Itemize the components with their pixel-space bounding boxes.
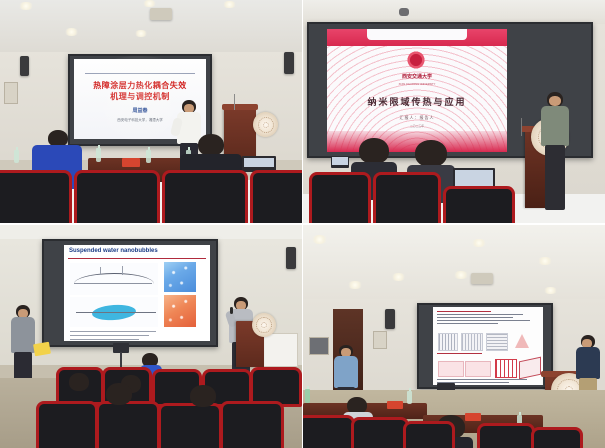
auditorium-chair — [0, 170, 72, 223]
wall-speaker — [286, 247, 296, 269]
bullet-line — [70, 335, 149, 336]
laptop — [331, 156, 349, 168]
ceiling-light — [222, 1, 237, 8]
auditorium-chair — [443, 186, 515, 223]
laptop-screen — [244, 158, 274, 167]
pink-table — [465, 361, 491, 377]
slide-byline: 汇报人：报告人 — [327, 115, 507, 121]
bullet-line — [70, 331, 156, 332]
lens-bubble-diagram — [70, 297, 158, 327]
auditorium-chair — [477, 423, 535, 448]
ceiling-camera — [399, 8, 409, 16]
auditorium-chair — [36, 401, 98, 448]
triangle-plot — [515, 334, 529, 348]
microphone-stand — [234, 94, 235, 110]
head — [106, 383, 132, 405]
projection-screen — [417, 303, 553, 389]
slide-subtext — [437, 353, 503, 356]
ceiling-light — [543, 287, 558, 294]
auditorium-chair — [162, 170, 248, 223]
microphone-stand — [521, 118, 522, 136]
red-box — [387, 401, 403, 409]
panel-bottom-right — [303, 225, 605, 448]
university-name-cn: 西安交通大学 — [327, 73, 507, 80]
grid-microstructure — [486, 333, 508, 351]
auditorium-chair — [351, 417, 409, 448]
auditorium-chair — [250, 170, 302, 223]
panel-bottom-left: Suspended water nanobubbles — [0, 225, 302, 448]
lecture-hall-scene-3: Suspended water nanobubbles — [0, 225, 302, 448]
lecture-hall-scene-2: 西安交通大学 XI'AN JIAOTONG UNIVERSITY 纳米限域传热与… — [303, 0, 605, 223]
slide-notch — [367, 29, 468, 40]
text-line — [437, 353, 482, 354]
substrate-line — [76, 312, 156, 313]
ceiling-light — [391, 273, 406, 281]
ceiling-light — [311, 235, 328, 244]
ceiling — [0, 225, 302, 239]
decorative-flower — [253, 112, 278, 137]
wall-speaker — [284, 52, 294, 74]
ceiling-projector — [471, 273, 493, 284]
ceiling-light — [453, 271, 469, 279]
wall-control-panel — [4, 82, 18, 104]
schematic-wave-diagram — [70, 263, 158, 295]
wall-speaker — [20, 56, 29, 76]
head — [190, 385, 216, 407]
water-bottle — [146, 150, 151, 163]
slide-rule — [68, 258, 206, 259]
red-striped-lattice — [495, 359, 517, 378]
baseline — [74, 283, 152, 284]
wall-control-panel — [373, 331, 387, 349]
head — [69, 373, 89, 391]
auditorium-chair — [373, 172, 441, 223]
ceiling-light — [18, 2, 34, 10]
auditorium-chair — [403, 421, 455, 448]
head — [198, 134, 224, 156]
whiteboard — [262, 333, 298, 367]
text-line — [437, 320, 530, 321]
audience-row — [186, 385, 220, 415]
wall-speaker — [385, 309, 395, 329]
torso — [576, 347, 600, 379]
slide-text-block — [437, 311, 535, 326]
slide-bottom-left: Suspended water nanobubbles — [64, 245, 210, 341]
hatched-panel — [461, 333, 483, 351]
panel-top-left: 热障涂层力热化耦合失效 机理与调控机制 周益春 西安电子科技大学，湘潭大学 — [0, 0, 302, 223]
slide-top-right: 西安交通大学 XI'AN JIAOTONG UNIVERSITY 纳米限域传热与… — [327, 29, 507, 152]
torso — [541, 106, 569, 146]
text-line — [437, 317, 513, 318]
slide-bullets — [70, 331, 156, 341]
text-line — [437, 323, 498, 324]
auditorium-chair — [74, 170, 160, 223]
slide-title: Suspended water nanobubbles — [69, 248, 158, 254]
head — [359, 138, 389, 164]
tick — [100, 267, 101, 275]
skewed-cube — [519, 357, 541, 380]
camera-tripod — [110, 343, 132, 369]
wall-monitor — [309, 337, 329, 355]
bullet-line — [70, 339, 139, 340]
laptop-screen — [455, 170, 493, 187]
slide-bottom-right — [433, 307, 543, 385]
microphone — [230, 307, 233, 314]
audience-row — [102, 383, 136, 413]
text-line — [437, 379, 527, 380]
ceiling-light — [64, 28, 79, 36]
orange-afm-image — [164, 295, 196, 327]
slide-top-band — [327, 29, 507, 46]
torso — [334, 356, 358, 388]
ceiling-light — [134, 30, 148, 37]
ceiling-light — [471, 239, 487, 247]
red-box — [122, 158, 140, 167]
auditorium-chair — [303, 415, 355, 448]
auditorium-chair — [309, 172, 371, 223]
blue-afm-image — [164, 262, 196, 292]
projection-screen: Suspended water nanobubbles — [42, 239, 218, 347]
ceiling-projector — [150, 8, 172, 20]
slide-divider — [85, 73, 196, 74]
water-bottle — [407, 391, 412, 404]
auditorium-chair — [531, 427, 583, 448]
audience-row — [66, 373, 92, 401]
ceiling-light — [142, 0, 157, 7]
ceiling — [303, 225, 605, 299]
photo-collage: 热障涂层力热化耦合失效 机理与调控机制 周益春 西安电子科技大学，湘潭大学 — [0, 0, 605, 448]
slide-title: 纳米限域传热与应用 — [327, 95, 507, 108]
laptop-screen — [332, 157, 348, 165]
text-line — [437, 311, 491, 312]
water-bottle — [96, 148, 101, 162]
ceiling — [303, 0, 605, 24]
water-bottle — [305, 389, 310, 403]
university-name-en: XI'AN JIAOTONG UNIVERSITY — [327, 83, 507, 86]
water-bottle — [14, 150, 19, 163]
lecture-hall-scene-4 — [303, 225, 605, 448]
lecture-hall-scene-1: 热障涂层力热化耦合失效 机理与调控机制 周益春 西安电子科技大学，湘潭大学 — [0, 0, 302, 223]
decorative-flower — [252, 313, 276, 337]
text-line — [437, 314, 523, 315]
tick — [122, 266, 123, 275]
ceiling-light — [347, 281, 363, 289]
auditorium-chair — [220, 401, 284, 448]
presenter-gray-shirt — [539, 92, 571, 210]
pink-table — [438, 361, 464, 377]
head — [415, 140, 447, 167]
university-logo — [406, 50, 426, 70]
ceiling-light — [537, 257, 553, 265]
face — [549, 96, 561, 106]
grid-microstructure — [438, 333, 458, 351]
panel-top-right: 西安交通大学 XI'AN JIAOTONG UNIVERSITY 纳米限域传热与… — [303, 0, 605, 223]
legs — [545, 145, 565, 210]
slide-title-line1: 热障涂层力热化耦合失效 — [82, 81, 198, 91]
slide-note: 二〇二三年 — [327, 124, 507, 128]
podium-top — [222, 104, 258, 110]
torso — [11, 317, 35, 353]
